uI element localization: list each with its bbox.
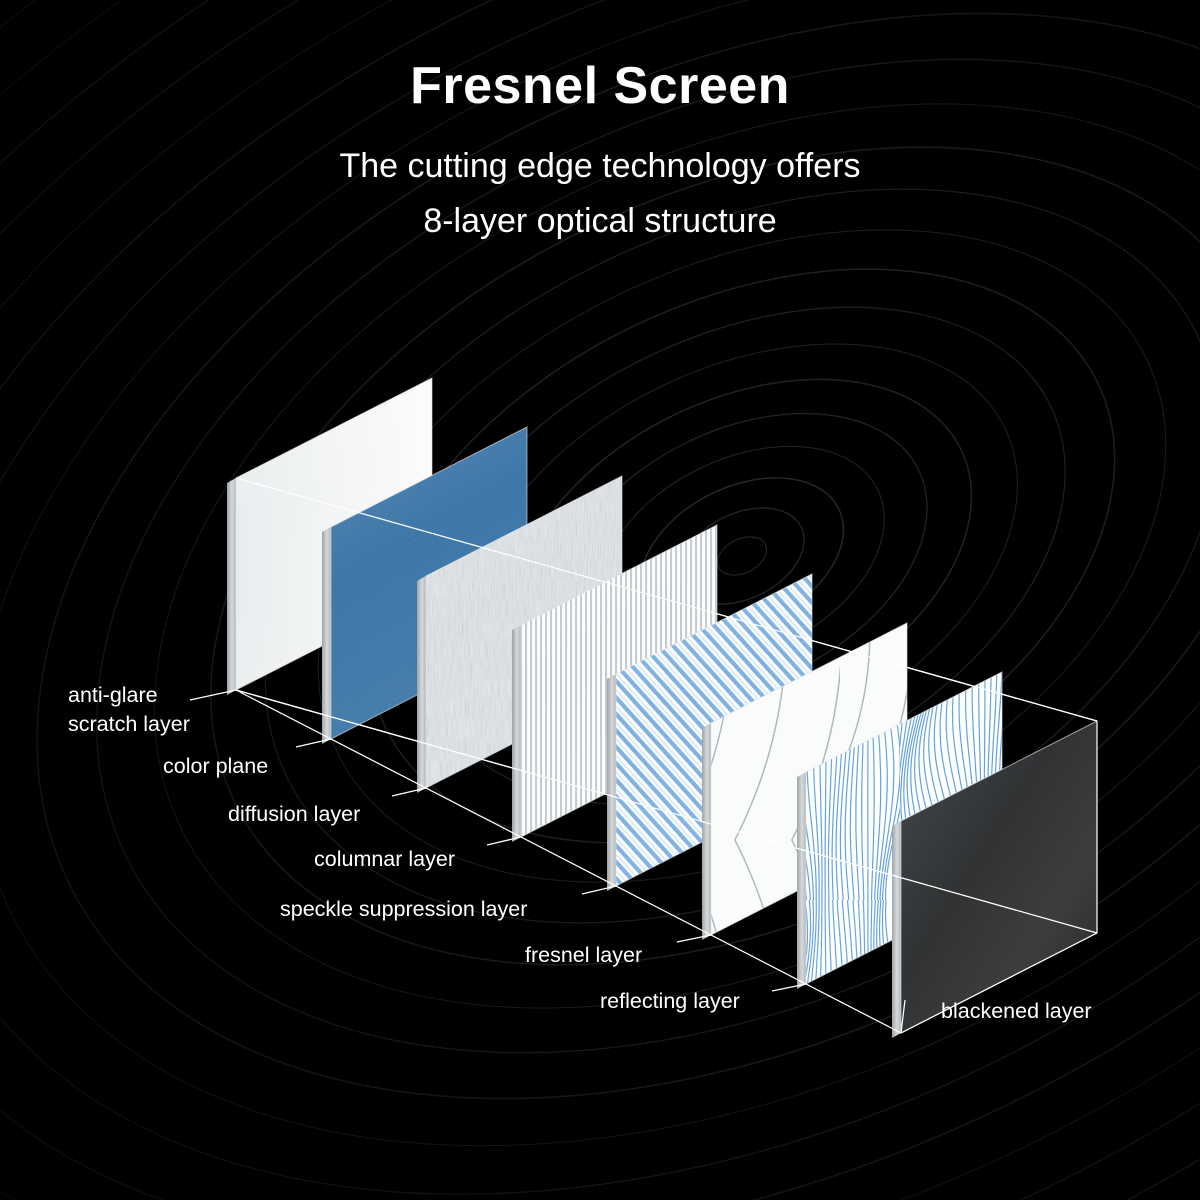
layer-label-color-plane: color plane (163, 752, 268, 781)
layer-label-line: color plane (163, 752, 268, 781)
layer-label-line: columnar layer (314, 845, 455, 874)
layer-panels (227, 378, 1097, 1038)
layer-label-anti-glare-scratch-layer: anti-glarescratch layer (68, 681, 190, 739)
layer-label-blackened-layer: blackened layer (941, 997, 1092, 1026)
page-title: Fresnel Screen (0, 58, 1200, 115)
layer-label-line: scratch layer (68, 710, 190, 739)
layer-label-line: anti-glare (68, 681, 190, 710)
header-block: Fresnel Screen The cutting edge technolo… (0, 58, 1200, 248)
poster-canvas: Fresnel Screen The cutting edge technolo… (0, 0, 1200, 1200)
layer-label-line: diffusion layer (228, 800, 360, 829)
layer-label-reflecting-layer: reflecting layer (600, 987, 740, 1016)
layer-label-diffusion-layer: diffusion layer (228, 800, 360, 829)
layer-label-columnar-layer: columnar layer (314, 845, 455, 874)
layer-label-speckle-suppression-layer: speckle suppression layer (280, 895, 527, 924)
layer-label-line: blackened layer (941, 997, 1092, 1026)
layer-label-fresnel-layer: fresnel layer (525, 941, 642, 970)
subtitle-line-2: 8-layer optical structure (0, 194, 1200, 248)
subtitle-line-1: The cutting edge technology offers (0, 139, 1200, 193)
layer-label-line: speckle suppression layer (280, 895, 527, 924)
layer-label-line: reflecting layer (600, 987, 740, 1016)
layer-label-line: fresnel layer (525, 941, 642, 970)
